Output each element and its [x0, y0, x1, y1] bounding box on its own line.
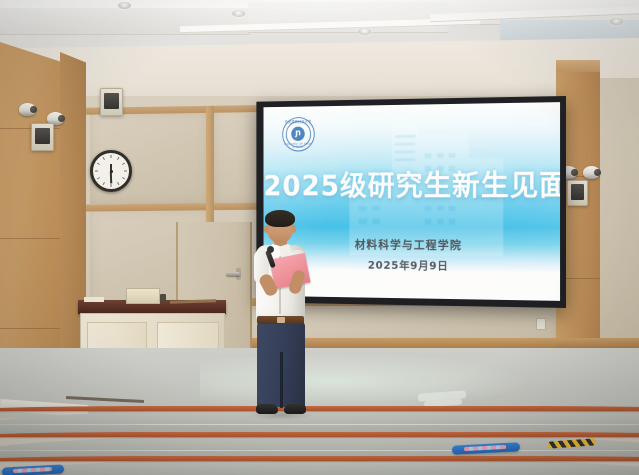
- lectern-papers: [84, 297, 104, 302]
- stage-step-nosing: [0, 456, 639, 461]
- stage-step-nosing: [0, 432, 639, 437]
- wall-speaker: [100, 88, 123, 116]
- presenter-trouser-seam: [280, 352, 283, 408]
- presenter-ear-left: [264, 225, 269, 233]
- ceiling-downlight: [118, 2, 131, 9]
- door-handle[interactable]: [226, 272, 240, 276]
- slide-title: 2025级研究生新生见面会: [263, 162, 560, 204]
- ceiling-downlight: [610, 18, 623, 25]
- right-wall: [600, 78, 639, 348]
- stage-step: [0, 434, 639, 458]
- microphone-head-icon: [267, 246, 274, 253]
- spotlight-icon: [19, 103, 36, 116]
- floor-sticker: [2, 464, 64, 475]
- emblem-arc-bottom-text: XIAN UNIV. OF ARCH. & TECH.: [283, 143, 314, 149]
- university-emblem-icon: 西安建筑科技大学 ɲ XIAN UNIV. OF ARCH. & TECH.: [282, 117, 314, 152]
- presenter-shoe-left: [256, 404, 278, 414]
- lectern-monitor-box: [126, 288, 160, 304]
- baseboard: [556, 338, 639, 348]
- right-column-cap: [556, 60, 600, 72]
- presenter-ear-right: [291, 225, 296, 233]
- lecture-hall-photo: 西安建筑科技大学 ɲ XIAN UNIV. OF ARCH. & TECH. 2…: [0, 0, 639, 475]
- wall-speaker: [567, 180, 588, 206]
- lectern-small-device: [160, 294, 166, 302]
- presenter-shoe-right: [284, 404, 306, 414]
- stage-step-highlight: [0, 450, 639, 451]
- spotlight-icon: [583, 166, 600, 179]
- emblem-arc-top-text: 西安建筑科技大学: [283, 119, 314, 124]
- wall-clock: [90, 150, 132, 192]
- clock-minute-hand: [110, 172, 112, 184]
- wall-speaker: [31, 123, 54, 151]
- stage-step-highlight: [0, 424, 639, 425]
- presenter-hair: [265, 210, 295, 227]
- ceiling-downlight: [358, 28, 371, 35]
- ceiling-downlight: [232, 10, 245, 17]
- presenter-belt-buckle: [277, 317, 285, 323]
- presenter: [246, 212, 316, 420]
- outlet-plate[interactable]: [536, 318, 546, 330]
- stage-step-nosing: [0, 406, 639, 411]
